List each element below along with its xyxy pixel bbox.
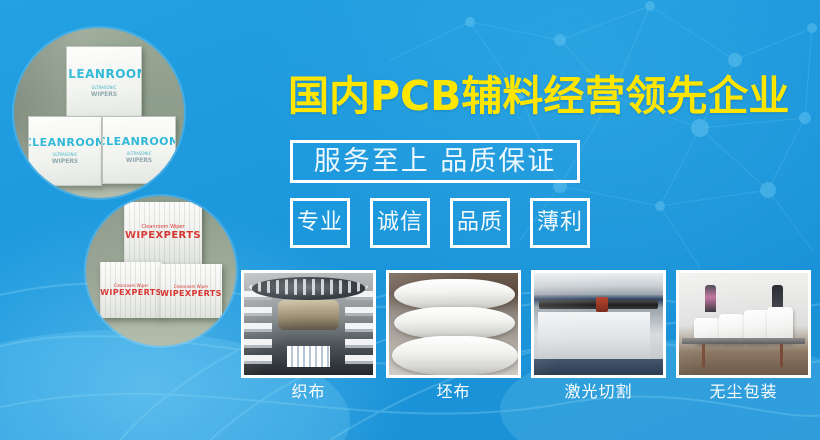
pack-label-left: CLEANROOM bbox=[28, 137, 102, 149]
keyword-box-1: 专业 bbox=[290, 198, 350, 248]
cleanroom-packing-photo bbox=[676, 270, 811, 378]
thumbnail-item-packing: 无尘包装 bbox=[676, 270, 811, 400]
keyword-label-3: 品质 bbox=[457, 212, 503, 234]
wipexperts-bales-photo: Cleanroom Wiper WIPEXPERTS Cleanroom Wip… bbox=[86, 196, 236, 346]
cleanroom-wipes-photo: CLEANROOM ULTRASONIC WIPERS CLEANROOM UL… bbox=[14, 28, 184, 198]
thumbnail-item-greige: 坯布 bbox=[386, 270, 521, 400]
banner-headline: 国内PCB辅料经营领先企业 bbox=[288, 76, 789, 117]
pack-label-right: CLEANROOM bbox=[102, 136, 176, 148]
keyword-box-3: 品质 bbox=[450, 198, 510, 248]
thumbnail-caption-weaving: 织布 bbox=[291, 384, 325, 400]
thumbnail-item-laser: 激光切割 bbox=[531, 270, 666, 400]
promotional-banner: CLEANROOM ULTRASONIC WIPERS CLEANROOM UL… bbox=[0, 0, 820, 440]
thumbnail-item-weaving: 织布 bbox=[241, 270, 376, 400]
keyword-box-2: 诚信 bbox=[370, 198, 430, 248]
pack-foot-right: WIPERS bbox=[126, 157, 152, 164]
pack-sub-top: ULTRASONIC bbox=[91, 86, 116, 90]
bale-label-top: WIPEXPERTS bbox=[125, 230, 201, 242]
keyword-list: 专业 诚信 品质 薄利 bbox=[290, 198, 590, 248]
pack-sub-right: ULTRASONIC bbox=[126, 152, 151, 156]
slogan-text: 服务至上 品质保证 bbox=[314, 148, 557, 175]
slogan-box: 服务至上 品质保证 bbox=[290, 140, 580, 183]
keyword-label-4: 薄利 bbox=[537, 212, 583, 234]
thumbnail-caption-packing: 无尘包装 bbox=[709, 384, 777, 400]
keyword-box-4: 薄利 bbox=[530, 198, 590, 248]
knitting-machine-photo bbox=[241, 270, 376, 378]
pack-foot-top: WIPERS bbox=[91, 91, 117, 98]
pack-sub-left: ULTRASONIC bbox=[52, 153, 77, 157]
process-thumbnail-row: 织布 坯布 激光切割 bbox=[241, 270, 811, 400]
pack-label-top: CLEANROOM bbox=[66, 68, 142, 81]
thumbnail-caption-greige: 坯布 bbox=[436, 384, 470, 400]
keyword-label-1: 专业 bbox=[297, 212, 343, 234]
pack-foot-left: WIPERS bbox=[52, 158, 78, 165]
fabric-rolls-photo bbox=[386, 270, 521, 378]
keyword-label-2: 诚信 bbox=[377, 212, 423, 234]
bale-label-right: WIPEXPERTS bbox=[160, 289, 222, 298]
laser-cutting-photo bbox=[531, 270, 666, 378]
bale-label-left: WIPEXPERTS bbox=[100, 288, 162, 297]
thumbnail-caption-laser: 激光切割 bbox=[564, 384, 632, 400]
